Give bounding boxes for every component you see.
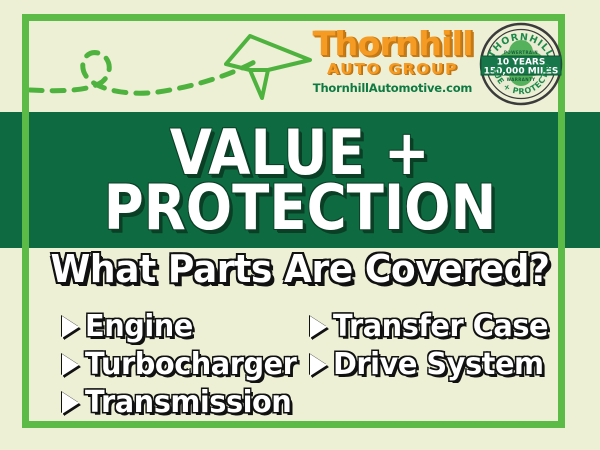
coverage-question-heading: What Parts Are Covered? (15, 250, 585, 288)
badge-powertrain-text: POWERTRAIN (504, 50, 538, 55)
parts-left-column: Engine Turbocharger Transmission (62, 308, 305, 422)
warranty-seal-badge: THORNHILL POWERTRAIN 10 YEARS 150,000 MI… (479, 22, 563, 106)
list-item: Transfer Case (310, 308, 557, 345)
triangle-bullet-icon (310, 354, 327, 376)
part-label: Drive System (333, 350, 544, 380)
list-item: Drive System (310, 346, 557, 383)
thornhill-logo: Thornhill AUTO GROUP ThornhillAutomotive… (310, 28, 475, 95)
advertisement-banner: Thornhill AUTO GROUP ThornhillAutomotive… (0, 0, 600, 450)
triangle-bullet-icon (310, 316, 327, 338)
part-label: Turbocharger (85, 350, 296, 380)
triangle-bullet-icon (62, 316, 79, 338)
parts-right-column: Transfer Case Drive System (310, 308, 557, 384)
part-label: Engine (85, 312, 193, 342)
logo-website-url: ThornhillAutomotive.com (310, 81, 475, 95)
value-protection-banner-background (0, 112, 600, 248)
part-label: Transmission (85, 388, 291, 418)
logo-subtitle: AUTO GROUP (310, 60, 475, 78)
covered-parts-list: Engine Turbocharger Transmission Transfe… (0, 308, 600, 418)
part-label: Transfer Case (333, 312, 548, 342)
list-item: Transmission (62, 384, 305, 421)
triangle-bullet-icon (62, 392, 79, 414)
logo-wordmark: Thornhill (308, 28, 476, 59)
triangle-bullet-icon (62, 354, 79, 376)
badge-warranty-text: WARRANTY (507, 77, 536, 82)
list-item: Turbocharger (62, 346, 305, 383)
list-item: Engine (62, 308, 305, 345)
dashed-arrow-path-icon (18, 20, 318, 115)
